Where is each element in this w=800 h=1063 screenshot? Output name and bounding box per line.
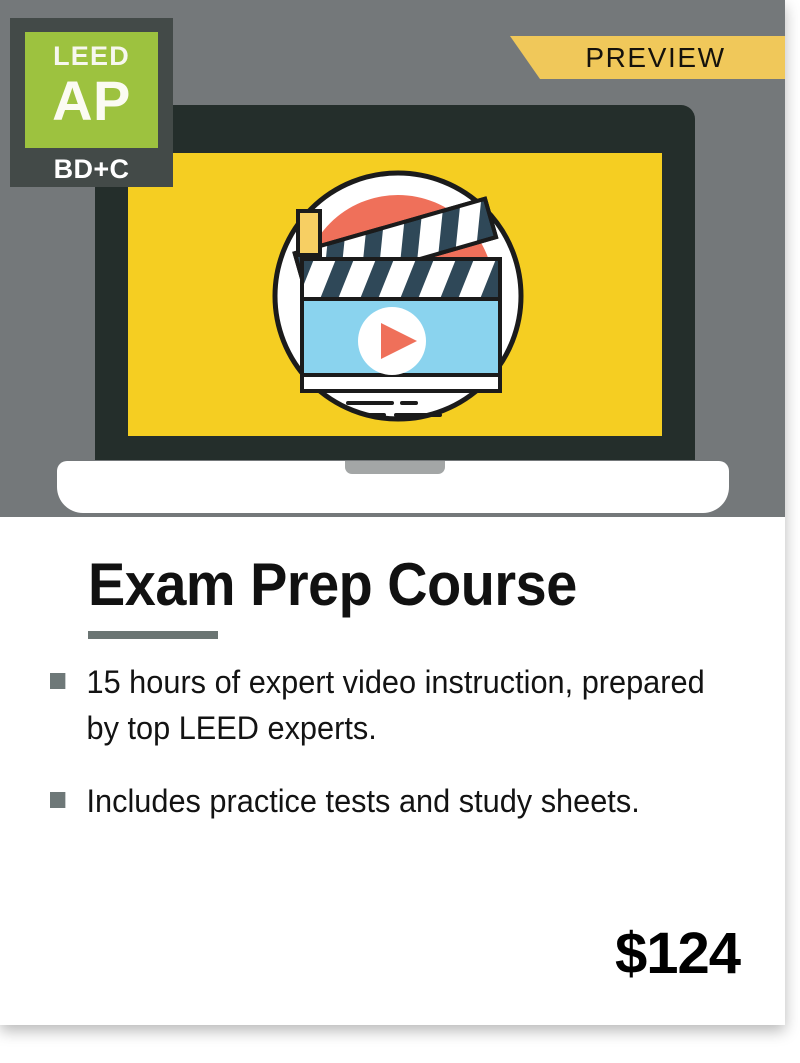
laptop-trackpad-notch <box>345 461 445 474</box>
title-divider <box>88 631 218 639</box>
feature-text: Includes practice tests and study sheets… <box>86 783 639 819</box>
preview-ribbon[interactable]: PREVIEW <box>502 36 785 79</box>
preview-ribbon-label: PREVIEW <box>585 42 725 74</box>
video-clapperboard-illustration <box>266 163 531 428</box>
list-item: Includes practice tests and study sheets… <box>50 779 732 825</box>
leed-specialty-label: BD+C <box>10 154 173 185</box>
course-price: $124 <box>615 920 740 987</box>
feature-text: 15 hours of expert video instruction, pr… <box>86 664 704 746</box>
leed-badge-green-panel: LEED AP <box>25 32 158 148</box>
leed-credential-badge: LEED AP BD+C <box>10 18 173 187</box>
hero-image-area: LEED AP BD+C PREVIEW <box>0 0 785 517</box>
bullet-square-icon <box>50 673 65 689</box>
leed-label: LEED <box>25 32 158 70</box>
bullet-square-icon <box>50 792 65 808</box>
course-feature-list: 15 hours of expert video instruction, pr… <box>50 660 760 851</box>
course-info-section: Exam Prep Course 15 hours of expert vide… <box>0 517 785 1025</box>
list-item: 15 hours of expert video instruction, pr… <box>50 660 732 752</box>
course-product-card[interactable]: LEED AP BD+C PREVIEW Exam Prep Course 15… <box>0 0 785 1025</box>
leed-credential-label: AP <box>25 70 158 129</box>
course-title: Exam Prep Course <box>88 550 577 619</box>
